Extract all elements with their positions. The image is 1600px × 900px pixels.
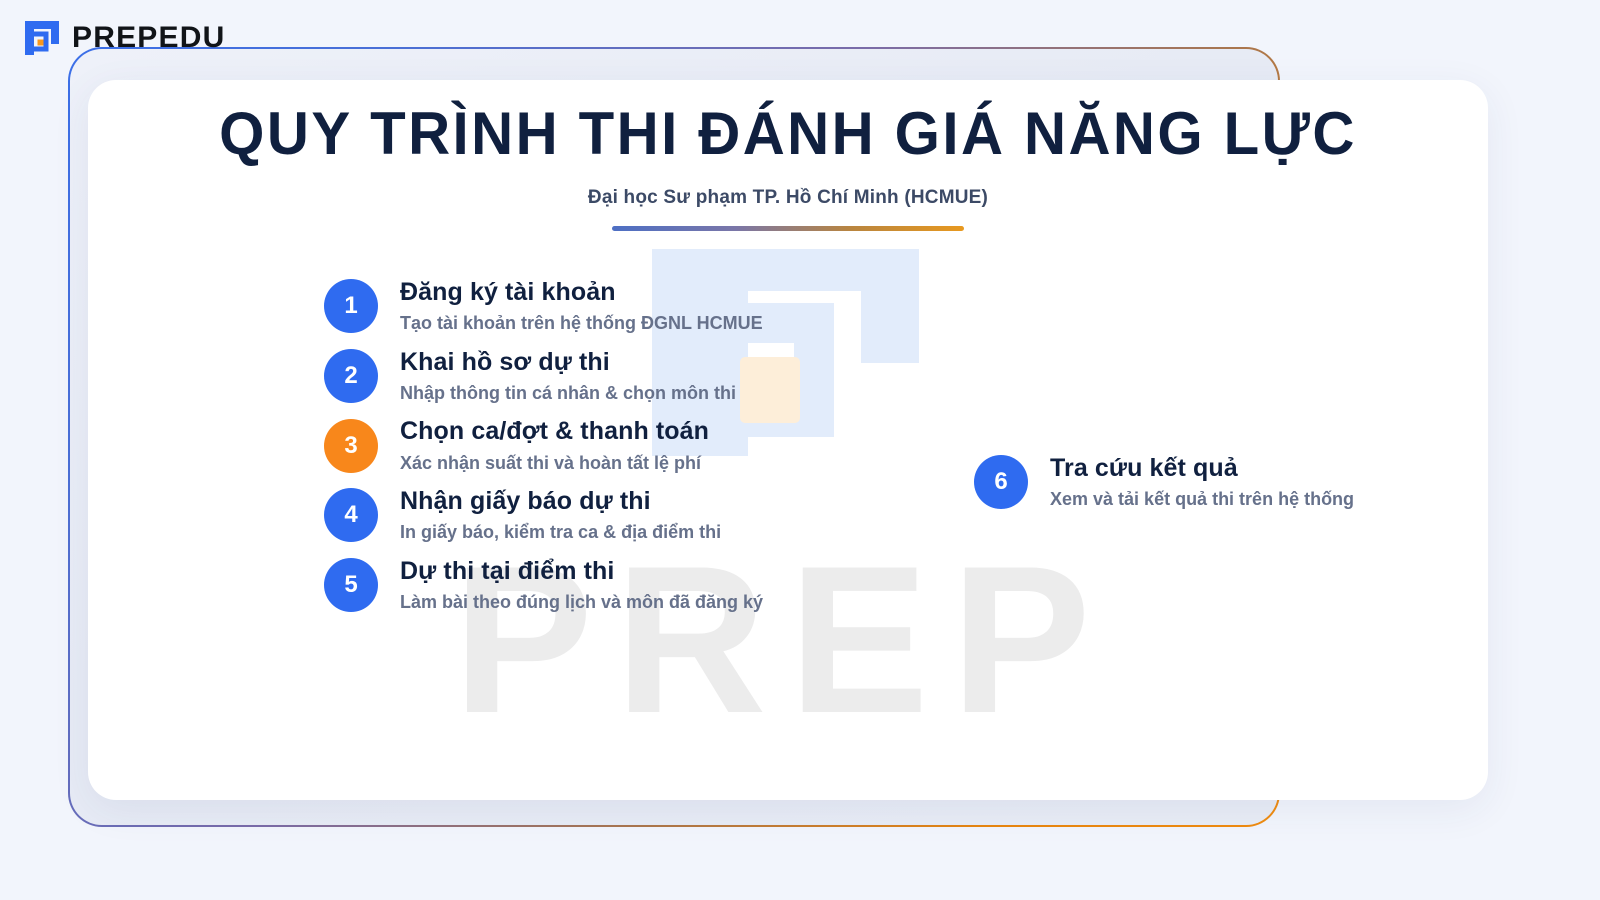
step-badge: 3	[324, 419, 378, 473]
step-title: Chọn ca/đợt & thanh toán	[400, 416, 709, 447]
brand-name: PREPEDU	[72, 23, 225, 53]
page-title: QUY TRÌNH THI ĐÁNH GIÁ NĂNG LỰC	[109, 102, 1467, 165]
step-text: Đăng ký tài khoản Tạo tài khoản trên hệ …	[400, 277, 763, 336]
step-text: Khai hồ sơ dự thi Nhập thông tin cá nhân…	[400, 347, 736, 406]
step-description: Làm bài theo đúng lịch và môn đã đăng ký	[400, 591, 763, 614]
step-text: Nhận giấy báo dự thi In giấy báo, kiểm t…	[400, 486, 721, 545]
step-title: Khai hồ sơ dự thi	[400, 347, 736, 378]
list-item: 1 Đăng ký tài khoản Tạo tài khoản trên h…	[324, 277, 884, 336]
step-title: Tra cứu kết quả	[1050, 453, 1354, 484]
page-subtitle: Đại học Sư phạm TP. Hồ Chí Minh (HCMUE)	[88, 187, 1488, 209]
step-text: Tra cứu kết quả Xem và tải kết quả thi t…	[1050, 453, 1354, 512]
prep-bracket-logo-icon	[22, 18, 62, 58]
steps-column-right: 6 Tra cứu kết quả Xem và tải kết quả thi…	[974, 277, 1444, 512]
step-title: Dự thi tại điểm thi	[400, 556, 763, 587]
list-item: 4 Nhận giấy báo dự thi In giấy báo, kiểm…	[324, 486, 884, 545]
step-description: Xem và tải kết quả thi trên hệ thống	[1050, 488, 1354, 511]
header-divider	[612, 226, 964, 231]
step-text: Dự thi tại điểm thi Làm bài theo đúng lị…	[400, 556, 763, 615]
step-badge: 4	[324, 488, 378, 542]
list-item: 6 Tra cứu kết quả Xem và tải kết quả thi…	[974, 453, 1444, 512]
step-badge: 2	[324, 349, 378, 403]
list-item: 5 Dự thi tại điểm thi Làm bài theo đúng …	[324, 556, 884, 615]
step-text: Chọn ca/đợt & thanh toán Xác nhận suất t…	[400, 416, 709, 475]
brand-logo: PREPEDU	[22, 18, 225, 58]
step-description: In giấy báo, kiểm tra ca & địa điểm thi	[400, 521, 721, 544]
list-item: 2 Khai hồ sơ dự thi Nhập thông tin cá nh…	[324, 347, 884, 406]
step-description: Xác nhận suất thi và hoàn tất lệ phí	[400, 452, 709, 475]
step-badge: 5	[324, 558, 378, 612]
steps-column-left: 1 Đăng ký tài khoản Tạo tài khoản trên h…	[324, 277, 884, 614]
process-steps: 1 Đăng ký tài khoản Tạo tài khoản trên h…	[88, 277, 1488, 614]
card-header: QUY TRÌNH THI ĐÁNH GIÁ NĂNG LỰC Đại học …	[88, 80, 1488, 231]
step-badge: 1	[324, 279, 378, 333]
step-title: Nhận giấy báo dự thi	[400, 486, 721, 517]
list-item: 3 Chọn ca/đợt & thanh toán Xác nhận suất…	[324, 416, 884, 475]
step-description: Tạo tài khoản trên hệ thống ĐGNL HCMUE	[400, 312, 763, 335]
step-title: Đăng ký tài khoản	[400, 277, 763, 308]
infographic-card: PREP QUY TRÌNH THI ĐÁNH GIÁ NĂNG LỰC Đại…	[88, 80, 1488, 800]
step-description: Nhập thông tin cá nhân & chọn môn thi	[400, 382, 736, 405]
step-badge: 6	[974, 455, 1028, 509]
